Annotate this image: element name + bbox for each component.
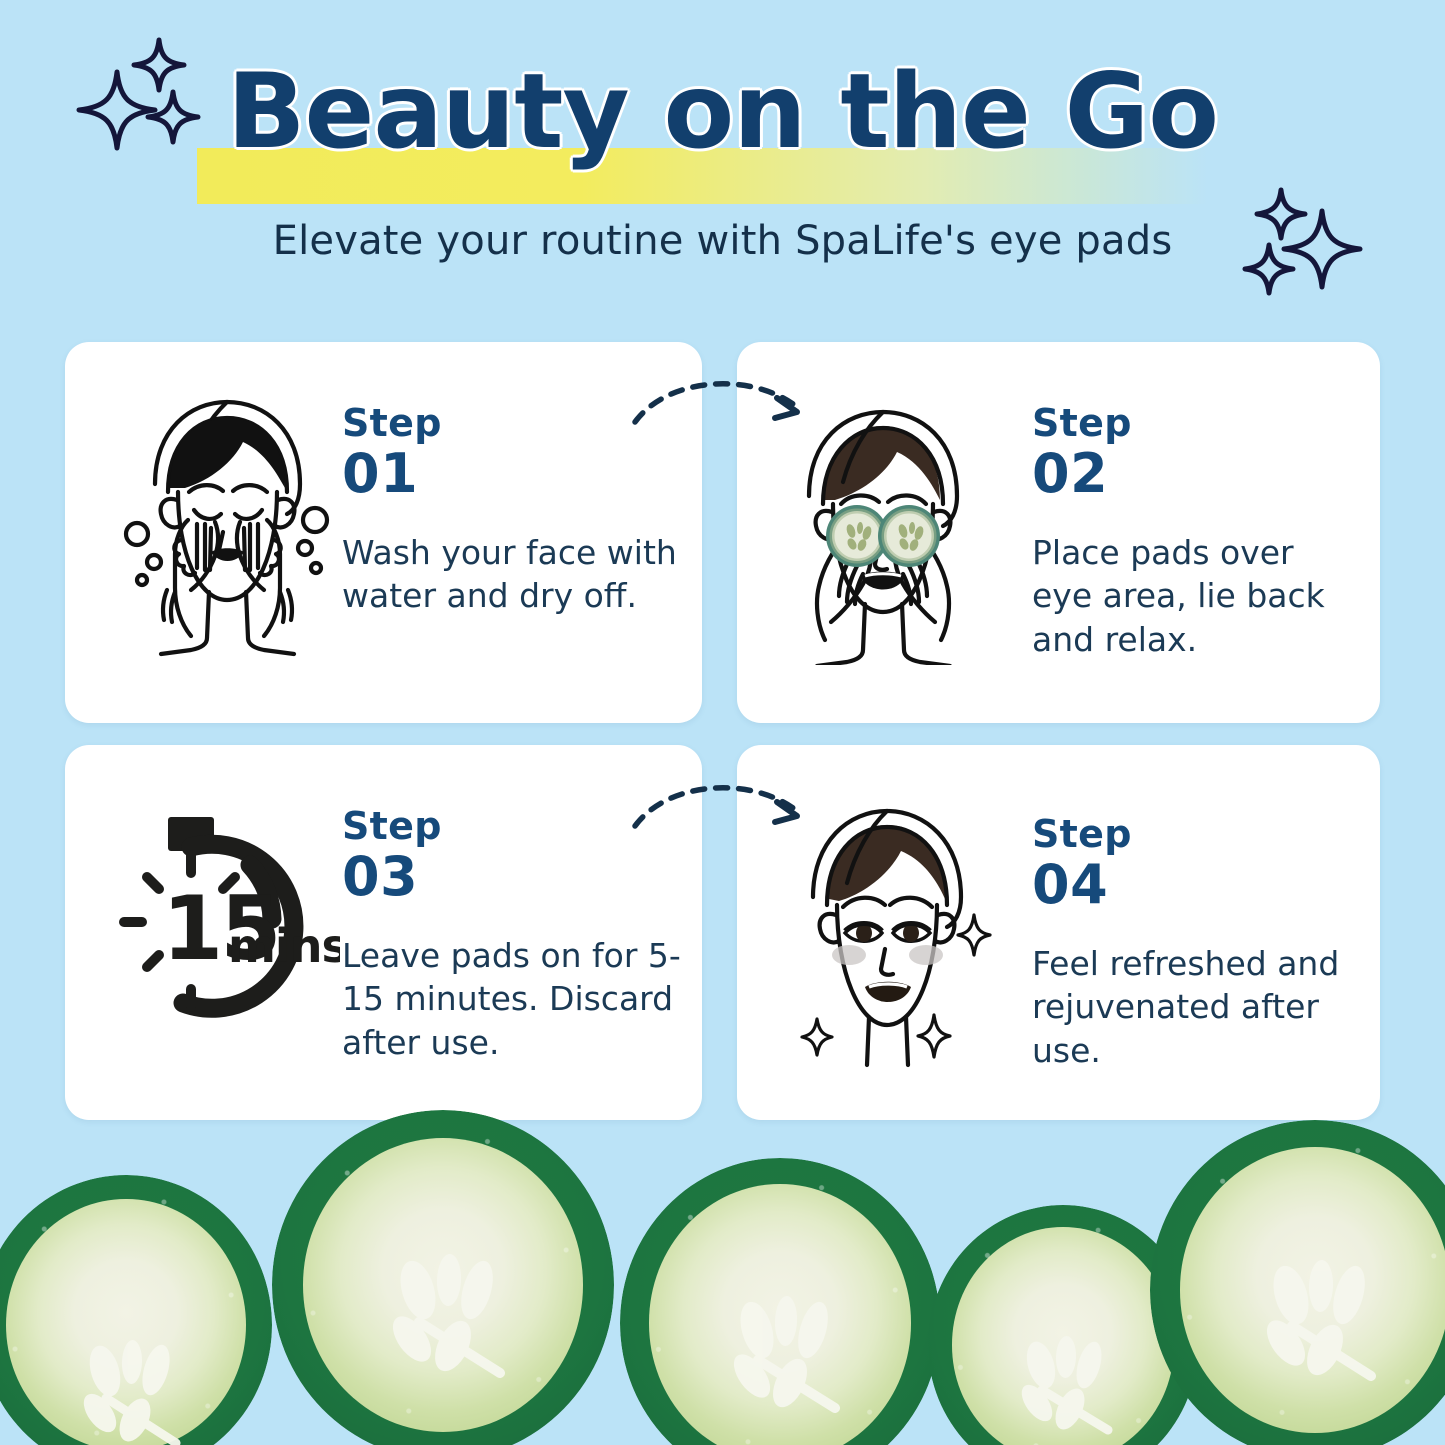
step-label-02: Step bbox=[1032, 404, 1362, 442]
step-card-03[interactable]: 15 mins Step 03 Leave pads on for 5-15 m… bbox=[65, 745, 702, 1120]
face-with-cucumber-eye-pads-illustration bbox=[757, 400, 1002, 665]
stopwatch-timer-icon: 15 mins bbox=[90, 807, 340, 1032]
cucumber-slice-pad bbox=[272, 1110, 614, 1445]
step-card-01[interactable]: Step 01 Wash your face with water and dr… bbox=[65, 342, 702, 723]
step-text-03: Step 03 Leave pads on for 5-15 minutes. … bbox=[342, 807, 687, 1064]
page-subtitle: Elevate your routine with SpaLife's eye … bbox=[0, 218, 1445, 264]
dashed-curved-arrow-icon-1 bbox=[625, 368, 830, 438]
washing-face-illustration bbox=[115, 392, 340, 657]
cucumber-slice-pad bbox=[1150, 1120, 1445, 1445]
step-number-01: 01 bbox=[342, 446, 682, 503]
step-description-04: Feel refreshed and rejuvenated after use… bbox=[1032, 942, 1372, 1073]
header: Beauty on the Go Elevate your routine wi… bbox=[0, 0, 1445, 310]
step-number-03: 03 bbox=[342, 849, 687, 906]
step-number-02: 02 bbox=[1032, 446, 1362, 503]
cucumber-slice-pad bbox=[0, 1175, 272, 1445]
refreshed-face-illustration bbox=[777, 803, 1012, 1068]
svg-text:mins: mins bbox=[228, 919, 340, 973]
infographic-canvas: Beauty on the Go Elevate your routine wi… bbox=[0, 0, 1445, 1445]
cucumber-slice-pad bbox=[620, 1158, 940, 1445]
dashed-curved-arrow-icon-2 bbox=[625, 772, 830, 842]
step-text-02: Step 02 Place pads over eye area, lie ba… bbox=[1032, 404, 1362, 661]
page-title: Beauty on the Go bbox=[0, 52, 1445, 172]
step-card-04[interactable]: Step 04 Feel refreshed and rejuvenated a… bbox=[737, 745, 1380, 1120]
step-card-02[interactable]: Step 02 Place pads over eye area, lie ba… bbox=[737, 342, 1380, 723]
step-description-02: Place pads over eye area, lie back and r… bbox=[1032, 531, 1362, 662]
step-label-04: Step bbox=[1032, 815, 1372, 853]
step-text-04: Step 04 Feel refreshed and rejuvenated a… bbox=[1032, 815, 1372, 1072]
step-description-03: Leave pads on for 5-15 minutes. Discard … bbox=[342, 934, 687, 1065]
cucumber-eye-pads-photo-strip bbox=[0, 1100, 1445, 1445]
step-description-01: Wash your face with water and dry off. bbox=[342, 531, 682, 618]
step-number-04: 04 bbox=[1032, 857, 1372, 914]
